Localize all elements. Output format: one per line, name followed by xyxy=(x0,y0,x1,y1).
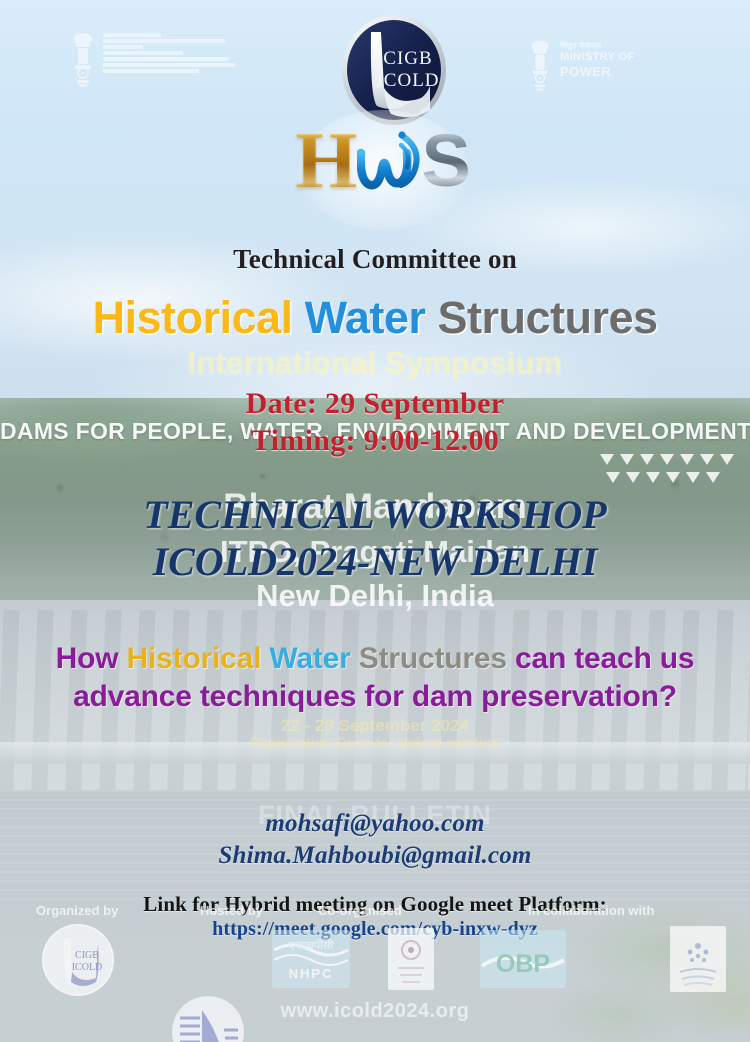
question-historical: Historical xyxy=(127,642,262,675)
hws-letter-h: H xyxy=(295,123,357,199)
poster-canvas: International Symposium DAMS FOR PEOPLE,… xyxy=(0,0,750,1042)
contact-email-2: Shima.Mahboubi@gmail.com xyxy=(0,840,750,872)
hws-logo: H S xyxy=(273,118,493,220)
footer-label-hosted-by: Hosted by xyxy=(200,903,263,918)
workshop-question: How Historical Water Structures can teac… xyxy=(38,640,712,717)
footer-label-co-organised: Co-organised xyxy=(318,903,402,918)
event-datetime: Date: 29 September Timing: 9:00-12.00 xyxy=(0,386,750,459)
emblem-left-text-lines xyxy=(103,30,235,73)
svg-text:ICOLD: ICOLD xyxy=(376,70,439,91)
event-timing: Timing: 9:00-12.00 xyxy=(0,423,750,460)
workshop-heading: TECHNICAL WORKSHOP ICOLD2024-NEW DELHI xyxy=(0,492,750,586)
ministry-line2: POWER xyxy=(560,64,635,79)
ministry-of-power-text: विद्युत मंत्रालय MINISTRY OF POWER xyxy=(560,38,635,79)
nhpc-logo-icon: एनएचपीसी NHPC xyxy=(272,930,350,988)
cigb-icold-logo: CIGB ICOLD xyxy=(341,14,447,126)
india-government-emblem xyxy=(70,30,270,92)
obp-logo-icon: OBP xyxy=(480,930,566,988)
svg-text:CIGB: CIGB xyxy=(383,48,432,69)
footer-label-organized-by: Organized by xyxy=(36,903,118,918)
question-space2 xyxy=(351,642,359,675)
committee-label: Technical Committee on xyxy=(0,244,750,275)
ashoka-lion-capital-icon xyxy=(70,30,96,88)
partner-logo-1-icon xyxy=(388,928,434,990)
ashoka-lion-capital-icon xyxy=(528,38,552,92)
event-date: Date: 29 September xyxy=(0,386,750,423)
svg-text:एनएचपीसी: एनएचपीसी xyxy=(288,938,335,952)
footer-logo-partner-4[interactable] xyxy=(670,926,726,992)
svg-text:NHPC: NHPC xyxy=(289,966,334,981)
footer-logo-nhpc[interactable]: एनएचपीसी NHPC xyxy=(272,930,350,988)
workshop-line2: ICOLD2024-NEW DELHI xyxy=(0,539,750,586)
partner-logo-4-icon xyxy=(670,926,726,992)
footer-logo-cigb-icold[interactable]: CIGB ICOLD xyxy=(42,924,114,996)
contact-emails: mohsafi@yahoo.com Shima.Mahboubi@gmail.c… xyxy=(0,808,750,872)
ministry-line1: MINISTRY OF xyxy=(560,51,635,64)
meeting-link-url[interactable]: https://meet.google.com/cyb-inxw-dyz xyxy=(0,918,750,941)
workshop-line1: TECHNICAL WORKSHOP xyxy=(0,492,750,539)
hws-letter-s: S xyxy=(421,126,470,196)
cigb-icold-logo-icon: CIGB ICOLD xyxy=(42,924,114,996)
hws-logo-letters: H S xyxy=(273,118,493,204)
ministry-hindi-label: विद्युत मंत्रालय xyxy=(560,40,635,51)
footer-label-in-collaboration: In collaboration with xyxy=(528,903,654,918)
title-word-water: Water xyxy=(305,292,426,343)
page-title: Historical Water Structures xyxy=(0,292,750,344)
footer-logo-partner-1[interactable] xyxy=(388,928,434,990)
question-water: Water xyxy=(269,642,350,675)
title-word-structures: Structures xyxy=(437,292,657,343)
contact-email-1: mohsafi@yahoo.com xyxy=(0,808,750,840)
svg-text:OBP: OBP xyxy=(496,950,550,978)
hws-wave-w-icon xyxy=(357,127,423,201)
ministry-of-power-emblem: विद्युत मंत्रालय MINISTRY OF POWER xyxy=(528,38,678,96)
svg-text:CIGB: CIGB xyxy=(75,950,99,961)
question-part1: How xyxy=(56,642,127,675)
question-structures: Structures xyxy=(359,642,507,675)
footer-logo-obp[interactable]: OBP xyxy=(480,930,566,988)
title-word-historical: Historical xyxy=(92,292,292,343)
svg-text:ICOLD: ICOLD xyxy=(72,962,103,973)
